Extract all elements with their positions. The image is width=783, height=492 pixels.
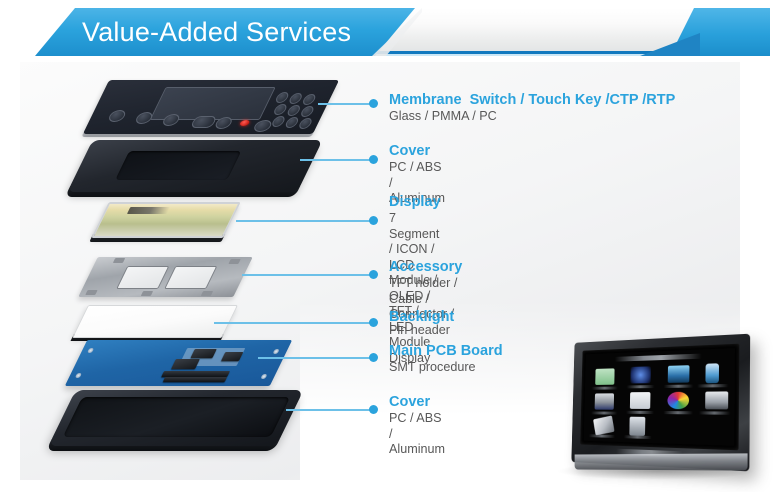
- app-label-9: [589, 434, 615, 438]
- app-label-2: [627, 385, 655, 388]
- callout-subtitle: PC / ABS / Aluminum: [389, 411, 445, 458]
- app-icon-4: [705, 363, 719, 383]
- slide-root: Value-Added Services: [0, 0, 783, 492]
- app-label-8: [699, 411, 730, 414]
- product-photo: [548, 334, 763, 484]
- app-label-4: [697, 384, 728, 388]
- callout-dot: [369, 155, 378, 164]
- callout-title: Accessory: [389, 259, 462, 276]
- app-label-5: [591, 411, 617, 414]
- callout-dot: [369, 405, 378, 414]
- app-icon-5: [595, 393, 614, 409]
- callout-subtitle: TFT holder / Cable / Connector / Pin hea…: [389, 276, 462, 338]
- callout-dot: [369, 99, 378, 108]
- product-body: [571, 334, 750, 472]
- app-icon-7: [667, 392, 689, 409]
- callout-dot: [369, 318, 378, 327]
- callout-title: Backlight: [389, 309, 454, 326]
- app-icon-8: [705, 391, 728, 409]
- callout-dot: [369, 216, 378, 225]
- leader-line: [236, 220, 372, 222]
- leader-line: [318, 103, 372, 105]
- product-base-stand: [575, 453, 748, 470]
- callout-subtitle: SMT procedure: [389, 360, 503, 376]
- app-icon-10: [629, 417, 645, 436]
- leader-line: [286, 409, 372, 411]
- app-icon-9: [593, 415, 615, 435]
- app-icon-3: [668, 365, 690, 383]
- callout-subtitle: Glass / PMMA / PC: [389, 109, 675, 125]
- callout-title: Cover: [389, 394, 445, 411]
- app-label-6: [626, 411, 654, 414]
- callout-title: Display: [389, 194, 441, 211]
- callout-title: Main PCB Board: [389, 343, 503, 360]
- app-label-1: [592, 387, 618, 390]
- app-label-10: [624, 435, 652, 439]
- leader-line: [258, 357, 372, 359]
- product-screen: [584, 348, 735, 446]
- callout-title: Membrane Switch / Touch Key /CTP /RTP: [389, 92, 675, 109]
- app-icon-1: [595, 368, 614, 385]
- app-icon-6: [630, 392, 651, 409]
- leader-line: [242, 274, 372, 276]
- leader-line: [300, 159, 372, 161]
- callout-title: Cover: [389, 143, 445, 160]
- callout-dot: [369, 270, 378, 279]
- screen-header-text: [615, 354, 702, 362]
- app-icon-2: [630, 366, 651, 383]
- leader-line: [214, 322, 372, 324]
- product-bezel: [580, 344, 739, 451]
- callout-dot: [369, 353, 378, 362]
- app-label-3: [664, 385, 693, 388]
- app-label-7: [663, 411, 693, 414]
